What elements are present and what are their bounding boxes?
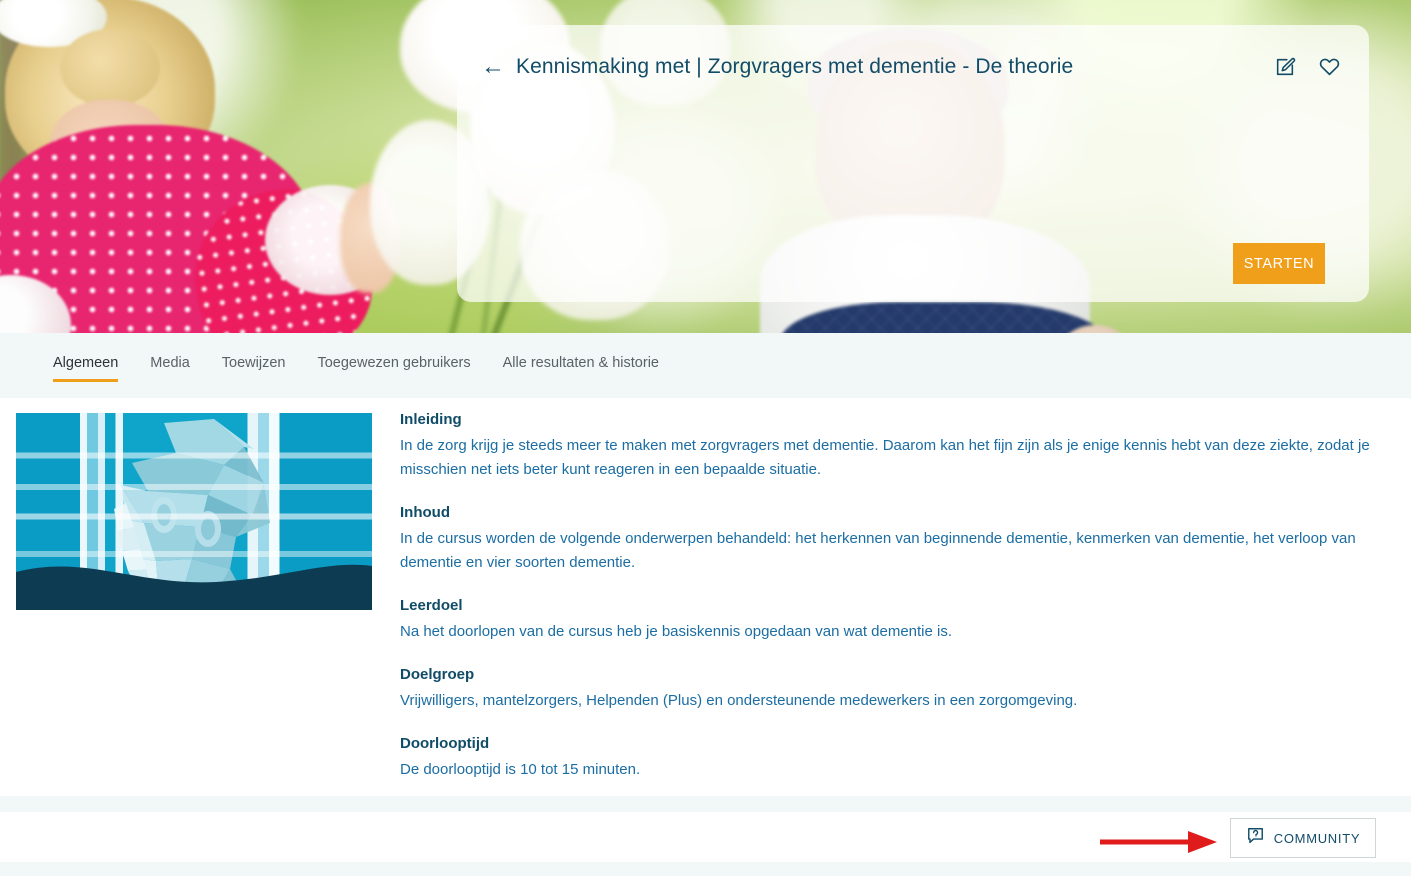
main-content: Inleiding In de zorg krijg je steeds mee… [0, 398, 1411, 796]
section-body-leerdoel: Na het doorlopen van de cursus heb je ba… [400, 620, 1375, 644]
thumbnail-wave [16, 550, 372, 610]
footer-bar [0, 812, 1411, 862]
start-button[interactable]: STARTEN [1233, 243, 1325, 284]
edit-pencil-icon[interactable] [1274, 56, 1296, 78]
section-heading-inhoud: Inhoud [400, 503, 1375, 523]
course-thumbnail [16, 413, 372, 610]
community-button[interactable]: COMMUNITY [1230, 818, 1376, 858]
tab-list: Algemeen Media Toewijzen Toegewezen gebr… [53, 333, 691, 398]
section-body-doorlooptijd: De doorlooptijd is 10 tot 15 minuten. [400, 758, 1375, 782]
separator-band-bottom [0, 862, 1411, 876]
page-title: Kennismaking met | Zorgvragers met demen… [516, 55, 1073, 79]
section-body-inhoud: In de cursus worden de volgende onderwer… [400, 527, 1375, 575]
section-heading-inleiding: Inleiding [400, 410, 1375, 430]
course-header-card: ← Kennismaking met | Zorgvragers met dem… [457, 25, 1369, 302]
tab-bar: Algemeen Media Toewijzen Toegewezen gebr… [0, 333, 1411, 398]
course-title-row: ← Kennismaking met | Zorgvragers met dem… [481, 55, 1345, 79]
section-heading-doorlooptijd: Doorlooptijd [400, 734, 1375, 754]
hero-banner: ← Kennismaking met | Zorgvragers met dem… [0, 0, 1411, 333]
course-header-actions [1274, 55, 1341, 78]
section-body-doelgroep: Vrijwilligers, mantelzorgers, Helpenden … [400, 689, 1375, 713]
question-speech-bubble-icon [1246, 826, 1265, 850]
course-description: Inleiding In de zorg krijg je steeds mee… [400, 410, 1375, 782]
section-heading-leerdoel: Leerdoel [400, 596, 1375, 616]
community-button-label: COMMUNITY [1274, 831, 1360, 846]
tab-algemeen[interactable]: Algemeen [53, 333, 118, 376]
tab-toegewezen-gebruikers[interactable]: Toegewezen gebruikers [317, 333, 470, 376]
heart-outline-icon[interactable] [1318, 55, 1341, 78]
section-body-inleiding: In de zorg krijg je steeds meer te maken… [400, 434, 1375, 482]
arrow-left-icon[interactable]: ← [481, 55, 505, 79]
tab-toewijzen[interactable]: Toewijzen [222, 333, 286, 376]
girl-hair-bun [60, 29, 160, 107]
tab-alle-resultaten-historie[interactable]: Alle resultaten & historie [503, 333, 659, 376]
tab-media[interactable]: Media [150, 333, 190, 376]
hero-girl-figure [0, 95, 395, 333]
separator-band-top [0, 796, 1411, 812]
section-heading-doelgroep: Doelgroep [400, 665, 1375, 685]
